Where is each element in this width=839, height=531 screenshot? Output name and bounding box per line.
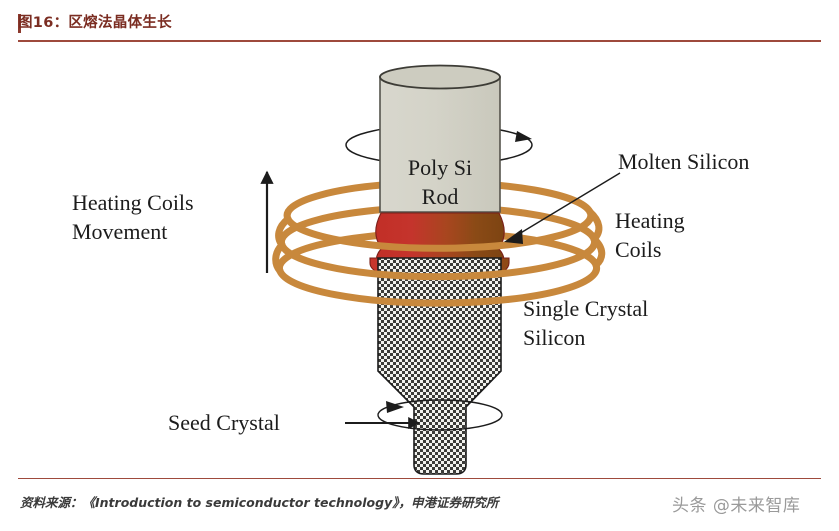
label-heating-coils-movement-line2: Movement bbox=[72, 219, 167, 244]
label-single-crystal-silicon-line1: Single Crystal bbox=[523, 296, 648, 321]
label-molten-silicon: Molten Silicon bbox=[618, 149, 749, 174]
single-crystal-silicon bbox=[378, 258, 501, 474]
float-zone-growth-diagram: Poly Si Rod Molten Silicon Heating Coils… bbox=[0, 41, 839, 478]
figure-card: 图16：区熔法晶体生长 bbox=[0, 0, 839, 531]
label-poly-si-rod-line1: Poly Si bbox=[408, 155, 472, 180]
watermark-text: 头条 @未来智库 bbox=[672, 491, 800, 516]
label-heating-coils-line1: Heating bbox=[615, 208, 685, 233]
figure-source-note: 资料来源：《Introduction to semiconductor tech… bbox=[20, 492, 498, 511]
label-heating-coils-movement-line1: Heating Coils bbox=[72, 190, 194, 215]
label-poly-si-rod-line2: Rod bbox=[422, 184, 459, 209]
page-title: 图16：区熔法晶体生长 bbox=[18, 11, 172, 32]
footer-divider bbox=[18, 478, 821, 479]
label-single-crystal-silicon-line2: Silicon bbox=[523, 325, 585, 350]
figure-header: 图16：区熔法晶体生长 bbox=[0, 0, 839, 41]
label-heating-coils-line2: Coils bbox=[615, 237, 661, 262]
diagram-canvas: Poly Si Rod Molten Silicon Heating Coils… bbox=[0, 41, 839, 478]
label-seed-crystal: Seed Crystal bbox=[168, 410, 280, 435]
